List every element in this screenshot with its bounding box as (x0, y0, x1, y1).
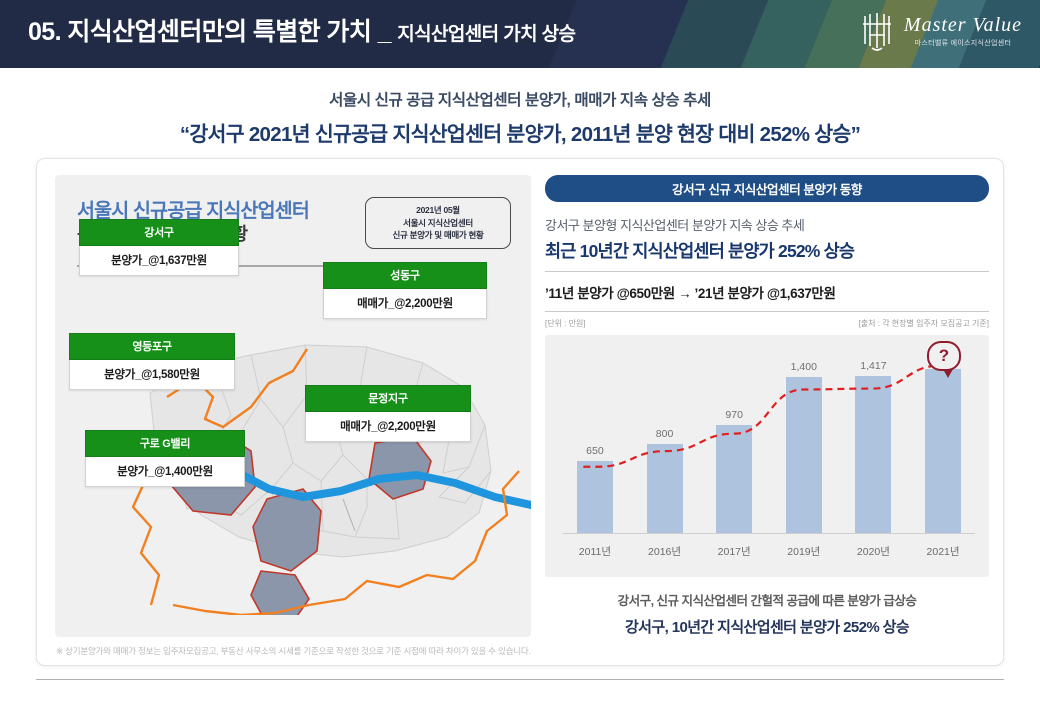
chart-x-axis-labels: 2011년2016년2017년2019년2020년2021년 (563, 544, 975, 559)
callout-guro-name: 구로 G밸리 (85, 430, 245, 457)
chart-bar-column: 1,400 (772, 353, 836, 533)
chart-footer-line-2: 강서구, 10년간 지식산업센터 분양가 252% 상승 (545, 616, 989, 637)
chart-x-label: 2011년 (563, 544, 627, 559)
chart-footer-block: 강서구, 신규 지식산업센터 간헐적 공급에 따른 분양가 급상승 강서구, 1… (545, 590, 989, 637)
callout-munjeong-name: 문정지구 (305, 385, 471, 412)
bottom-divider (36, 679, 1004, 680)
chart-panel: 강서구 신규 지식산업센터 분양가 동향 강서구 분양형 지식산업센터 분양가 … (545, 175, 989, 637)
chart-unit-note: [단위 : 만원] (545, 318, 586, 329)
callout-yeongdeungpo-value: 분양가_@1,580만원 (69, 360, 235, 390)
chart-x-label: 2017년 (702, 544, 766, 559)
question-mark-bubble: ? (927, 341, 961, 371)
chart-bar (577, 461, 613, 533)
bar-chart: 6508009701,4001,4171,637 2011년2016년2017년… (545, 335, 989, 577)
logo-name: Master Value (904, 14, 1022, 36)
badge-line-1: 2021년 05월 (416, 204, 460, 217)
callout-yeongdeungpo[interactable]: 영등포구 분양가_@1,580만원 (69, 333, 235, 390)
slide-subtitle-block: 서울시 신규 공급 지식산업센터 분양가, 매매가 지속 상승 추세 “강서구 … (0, 88, 1040, 147)
page-title: 05. 지식산업센터만의 특별한 가치 _ 지식산업센터 가치 상승 (28, 12, 575, 48)
slide-header: 05. 지식산업센터만의 특별한 가치 _ 지식산업센터 가치 상승 Maste… (0, 0, 1040, 68)
chart-bar (647, 444, 683, 533)
callout-gangseo-value: 분양가_@1,637만원 (79, 246, 239, 276)
chart-x-label: 2016년 (633, 544, 697, 559)
chart-subtitle-3: ’11년 분양가 @650만원 → ’21년 분양가 @1,637만원 (545, 282, 989, 302)
chart-meta-row: [단위 : 만원] [출처 : 각 현장별 입주자 모집공고 기준] (545, 318, 989, 329)
map-date-badge: 2021년 05월 서울시 지식산업센터 신규 분양가 및 매매가 현황 (365, 197, 511, 249)
header-title-text: 지식산업센터만의 특별한 가치 _ (67, 18, 391, 46)
callout-guro-gvalley[interactable]: 구로 G밸리 분양가_@1,400만원 (85, 430, 245, 487)
callout-seongdong-value: 매매가_@2,200만원 (323, 289, 487, 319)
logo-text-block: Master Value 마스터밸류 에이스지식산업센터 (904, 14, 1022, 48)
chart-source-note: [출처 : 각 현장별 입주자 모집공고 기준] (859, 318, 989, 329)
chart-bar-column: 800 (633, 353, 697, 533)
logo-korean-subtitle: 마스터밸류 에이스지식산업센터 (915, 38, 1012, 48)
callout-munjeong-value: 매매가_@2,200만원 (305, 412, 471, 442)
chart-panel-header: 강서구 신규 지식산업센터 분양가 동향 (545, 175, 989, 202)
callout-seongdong-name: 성동구 (323, 262, 487, 289)
chart-bar-column: 1,637 (911, 353, 975, 533)
callout-guro-value: 분양가_@1,400만원 (85, 457, 245, 487)
slide: 05. 지식산업센터만의 특별한 가치 _ 지식산업센터 가치 상승 Maste… (0, 0, 1040, 720)
callout-gangseo[interactable]: 강서구 분양가_@1,637만원 (79, 219, 239, 276)
map-panel: 서울시 신규공급 지식산업센터 분양가 및 매매가격 현황 2021년 05월 … (55, 175, 531, 637)
chart-axis-line (563, 533, 975, 534)
slide-footnote: ※ 상기분양가와 매매가 정보는 입주자모집공고, 부동산 사무소의 시세를 기… (56, 645, 956, 657)
chart-divider-1 (545, 271, 989, 272)
chart-subtitle-1: 강서구 분양형 지식산업센터 분양가 지속 상승 추세 (545, 215, 989, 234)
chart-x-label: 2020년 (842, 544, 906, 559)
header-subtitle-text: 지식산업센터 가치 상승 (397, 24, 575, 45)
chart-bar (855, 376, 891, 533)
header-number: 05. (28, 18, 61, 46)
logo-emblem-icon (859, 10, 895, 52)
chart-bar-value-label: 970 (725, 409, 743, 421)
chart-bars: 6508009701,4001,4171,637 (563, 353, 975, 533)
chart-bar-column: 970 (702, 353, 766, 533)
badge-line-2: 서울시 지식산업센터 (403, 217, 473, 230)
chart-bar-value-label: 1,400 (791, 361, 817, 373)
seoul-map: 강서구 분양가_@1,637만원 성동구 매매가_@2,200만원 영등포구 분… (55, 275, 531, 615)
chart-footer-line-1: 강서구, 신규 지식산업센터 간헐적 공급에 따른 분양가 급상승 (545, 590, 989, 609)
callout-gangseo-name: 강서구 (79, 219, 239, 246)
subtitle-line-1: 서울시 신규 공급 지식산업센터 분양가, 매매가 지속 상승 추세 (0, 88, 1040, 110)
chart-bar-value-label: 800 (656, 428, 674, 440)
chart-x-label: 2021년 (911, 544, 975, 559)
chart-bar-value-label: 1,417 (860, 360, 886, 372)
chart-bar-value-label: 650 (586, 445, 604, 457)
callout-yeongdeungpo-name: 영등포구 (69, 333, 235, 360)
chart-divider-2 (545, 311, 989, 312)
chart-bar (716, 425, 752, 533)
subtitle-line-2: “강서구 2021년 신규공급 지식산업센터 분양가, 2011년 분양 현장 … (0, 117, 1040, 147)
callout-seongdong[interactable]: 성동구 매매가_@2,200만원 (323, 262, 487, 319)
chart-bar (786, 377, 822, 533)
chart-plot-area: 6508009701,4001,4171,637 2011년2016년2017년… (563, 345, 975, 567)
chart-bar (925, 369, 961, 533)
brand-logo: Master Value 마스터밸류 에이스지식산업센터 (859, 10, 1022, 52)
badge-line-3: 신규 분양가 및 매매가 현황 (393, 229, 484, 242)
chart-x-label: 2019년 (772, 544, 836, 559)
callout-munjeong[interactable]: 문정지구 매매가_@2,200만원 (305, 385, 471, 442)
chart-bar-column: 1,417 (842, 353, 906, 533)
chart-subtitle-2: 최근 10년간 지식산업센터 분양가 252% 상승 (545, 238, 989, 263)
content-card: 서울시 신규공급 지식산업센터 분양가 및 매매가격 현황 2021년 05월 … (36, 158, 1004, 666)
chart-bar-column: 650 (563, 353, 627, 533)
